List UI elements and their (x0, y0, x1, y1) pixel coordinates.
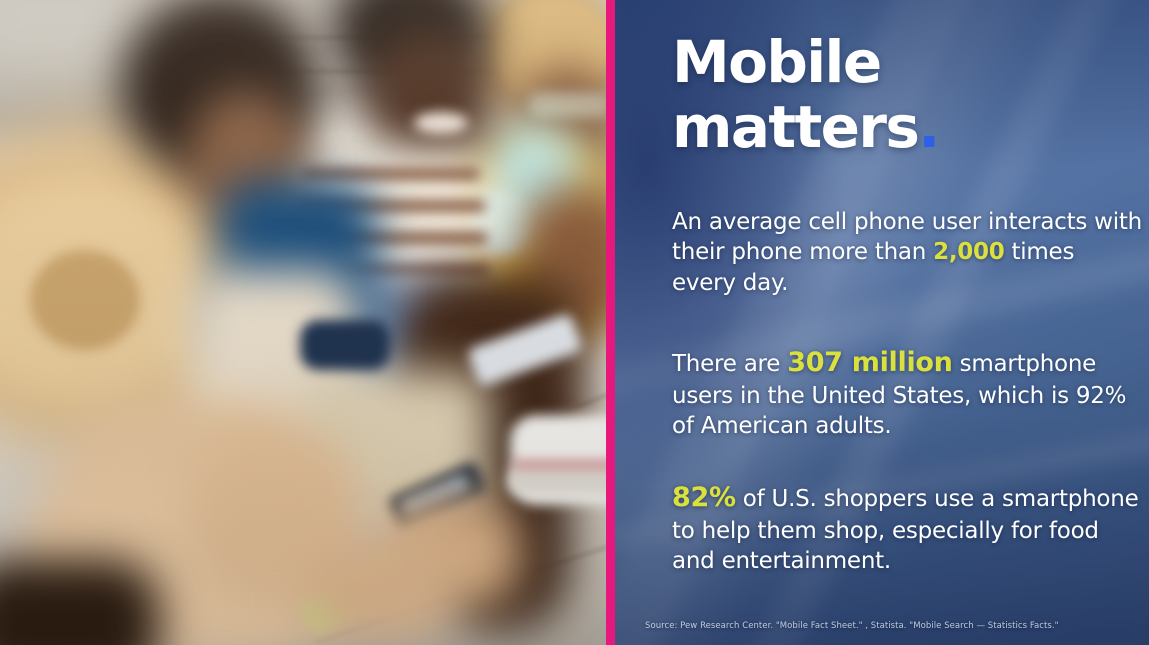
page-title: Mobile matters. (672, 30, 1132, 160)
stat-paragraph-1: An average cell phone user interacts wit… (672, 207, 1142, 298)
title-line-2-wrap: matters. (672, 95, 1132, 160)
title-line-1: Mobile (672, 30, 1132, 95)
stat-paragraph-2: There are 307 million smartphone users i… (672, 345, 1142, 441)
stat-highlight-307-million: 307 million (787, 347, 952, 378)
stat-paragraph-3: 82% of U.S. shoppers use a smartphone to… (672, 480, 1142, 576)
title-period: . (918, 93, 938, 161)
pink-divider-bar (606, 0, 615, 645)
info-panel: Mobile matters. An average cell phone us… (615, 0, 1149, 645)
paragraph-3-after: of U.S. shoppers use a smartphone to hel… (672, 486, 1138, 574)
paragraph-2-before: There are (672, 351, 787, 377)
source-citation: Source: Pew Research Center. "Mobile Fac… (645, 621, 1140, 631)
stat-highlight-2000: 2,000 (933, 239, 1004, 265)
slide-mobile-matters: Mobile matters. An average cell phone us… (0, 0, 1149, 645)
stat-highlight-82-percent: 82% (672, 482, 736, 513)
photo-young-people-with-phones (0, 0, 608, 645)
photo-tone-overlay (0, 0, 608, 645)
title-line-2: matters (672, 93, 918, 161)
